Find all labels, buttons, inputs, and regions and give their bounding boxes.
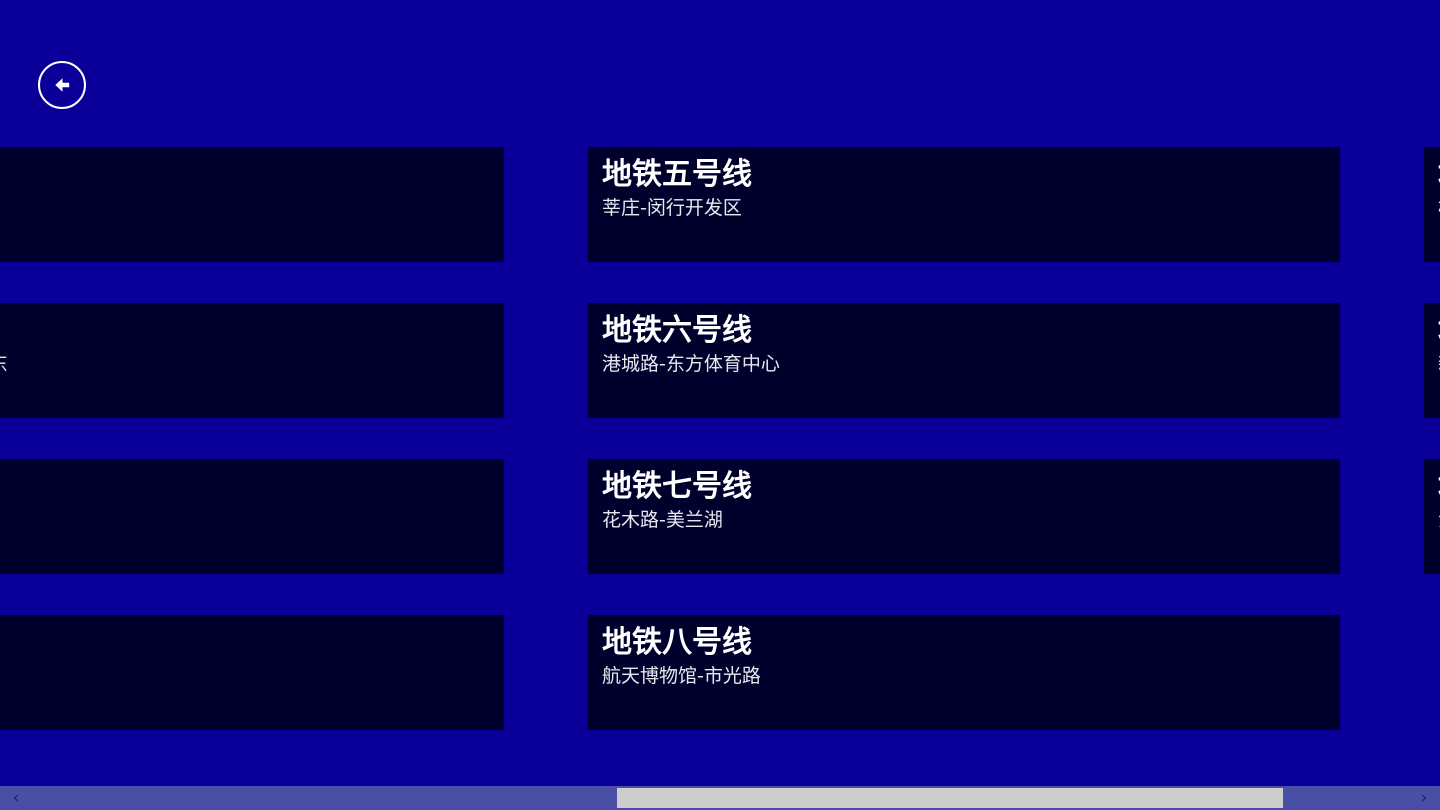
- arrow-left-circle-icon: [49, 72, 75, 98]
- line-tile[interactable]: 地铁五号线莘庄-闵行开发区: [588, 147, 1340, 262]
- line-tile-title: 地铁四号线: [0, 623, 490, 662]
- line-tile-subtitle: 花木路-美兰湖: [602, 506, 1326, 534]
- line-tile-subtitle: 浦东国际机场-广兰路-徐泾东: [0, 350, 490, 378]
- line-tile[interactable]: 地铁四号线环线: [0, 615, 504, 730]
- line-tile-subtitle: 上海南站-江杨北路: [0, 506, 490, 534]
- line-tile[interactable]: 地铁一号线莘庄-上海火车站-富锦路: [0, 147, 504, 262]
- line-tile-subtitle: 环线: [0, 662, 490, 690]
- scrollbar-thumb[interactable]: [617, 788, 1283, 808]
- line-tile-subtitle: 航天博物馆-市光路: [602, 662, 1326, 690]
- line-tile[interactable]: 地铁八号线航天博物馆-市光路: [588, 615, 1340, 730]
- line-tile[interactable]: 地铁七号线花木路-美兰湖: [588, 459, 1340, 574]
- line-tile-grid: 地铁一号线莘庄-上海火车站-富锦路地铁二号线浦东国际机场-广兰路-徐泾东地铁三号…: [0, 147, 1440, 731]
- line-tile-subtitle: 莘庄-闵行开发区: [602, 194, 1326, 222]
- line-tile-title: 地铁三号线: [0, 467, 490, 506]
- line-tile[interactable]: 地铁十号线新江湾城-虹桥火车站/航中路: [1424, 303, 1440, 418]
- line-tile-title: 地铁七号线: [602, 467, 1326, 506]
- line-tile-title: 地铁五号线: [602, 155, 1326, 194]
- line-tile[interactable]: 地铁六号线港城路-东方体育中心: [588, 303, 1340, 418]
- back-button[interactable]: [38, 61, 86, 109]
- horizontal-scrollbar[interactable]: ‹ ›: [0, 786, 1440, 810]
- line-tile[interactable]: 地铁十一号线江苏路-嘉定北/安亭: [1424, 459, 1440, 574]
- line-tile-subtitle: 莘庄-上海火车站-富锦路: [0, 194, 490, 222]
- line-tile-title: 地铁六号线: [602, 311, 1326, 350]
- line-tile-title: 地铁二号线: [0, 311, 490, 350]
- line-tile-title: 地铁一号线: [0, 155, 490, 194]
- line-tile[interactable]: 地铁九号线杨高中路-松江新城: [1424, 147, 1440, 262]
- scroll-right-arrow-icon[interactable]: ›: [1408, 786, 1440, 810]
- metro-lines-page: 地铁一号线莘庄-上海火车站-富锦路地铁二号线浦东国际机场-广兰路-徐泾东地铁三号…: [0, 0, 1440, 810]
- line-tile-subtitle: 港城路-东方体育中心: [602, 350, 1326, 378]
- line-tile[interactable]: 地铁二号线浦东国际机场-广兰路-徐泾东: [0, 303, 504, 418]
- line-tile-title: 地铁八号线: [602, 623, 1326, 662]
- scroll-left-arrow-icon[interactable]: ‹: [0, 786, 32, 810]
- scrollbar-track[interactable]: [32, 786, 1408, 810]
- line-tile[interactable]: 地铁三号线上海南站-江杨北路: [0, 459, 504, 574]
